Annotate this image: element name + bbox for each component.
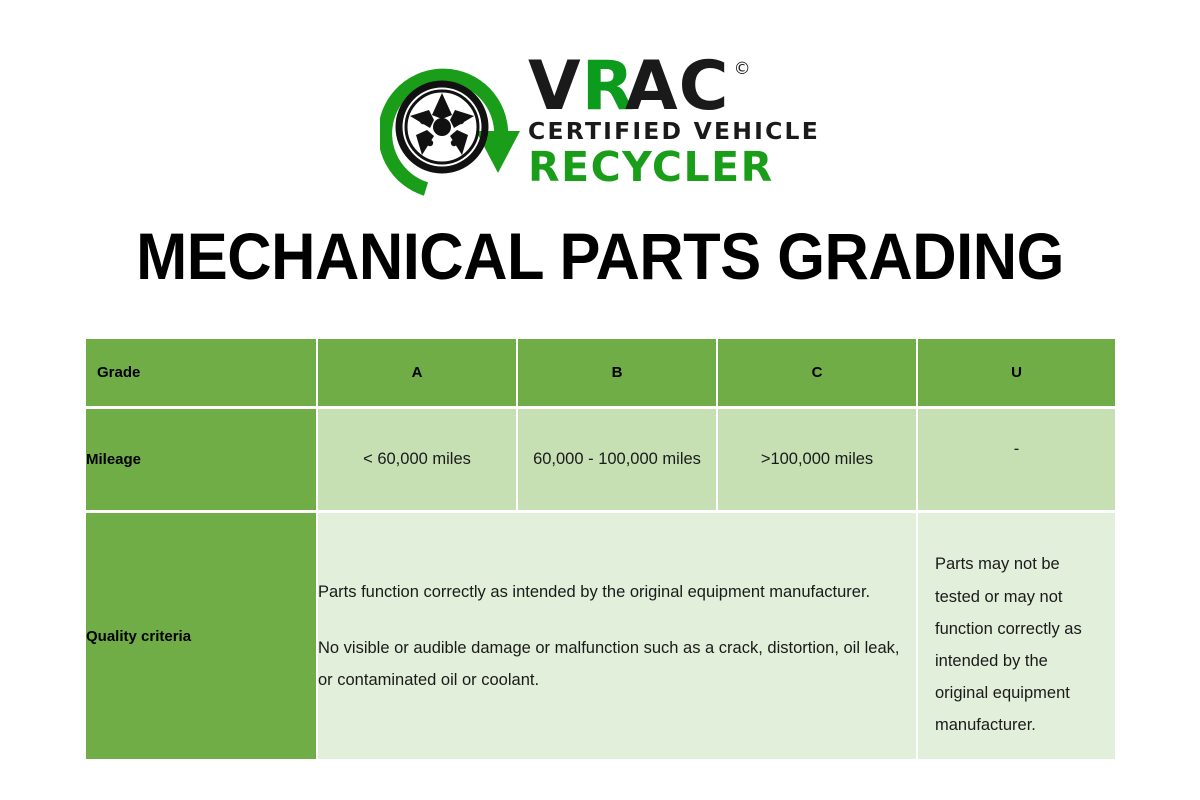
recycle-wheel-icon bbox=[380, 57, 520, 197]
cell-mileage-u: - bbox=[918, 409, 1115, 513]
brand-subbrand: RECYCLER bbox=[528, 147, 820, 188]
column-header-c: C bbox=[718, 339, 918, 409]
table-row-mileage: Mileage < 60,000 miles 60,000 - 100,000 … bbox=[86, 409, 1115, 513]
quality-paragraph-1: Parts function correctly as intended by … bbox=[318, 576, 916, 608]
quality-paragraph-2: No visible or audible damage or malfunct… bbox=[318, 632, 916, 696]
table-header-row: Grade A B C U bbox=[86, 339, 1115, 409]
brand-logo: V R A C © CERTIFIED VEHICLE RECYCLER bbox=[0, 52, 1200, 202]
column-header-a: A bbox=[318, 339, 518, 409]
brand-letter-v: V bbox=[528, 59, 582, 115]
logo-wordmark: V R A C © CERTIFIED VEHICLE RECYCLER bbox=[528, 57, 820, 188]
cell-quality-abc: Parts function correctly as intended by … bbox=[318, 513, 918, 759]
cell-mileage-c: >100,000 miles bbox=[718, 409, 918, 513]
logo-inner: V R A C © CERTIFIED VEHICLE RECYCLER bbox=[380, 57, 820, 197]
cell-quality-u: Parts may not be tested or may not funct… bbox=[918, 513, 1115, 759]
cell-mileage-a: < 60,000 miles bbox=[318, 409, 518, 513]
column-header-grade: Grade bbox=[86, 339, 318, 409]
copyright-icon: © bbox=[734, 63, 751, 77]
row-label-quality-criteria: Quality criteria bbox=[86, 513, 318, 759]
page-title: MECHANICAL PARTS GRADING bbox=[42, 218, 1158, 294]
brand-tagline: CERTIFIED VEHICLE bbox=[528, 120, 820, 144]
cell-mileage-b: 60,000 - 100,000 miles bbox=[518, 409, 718, 513]
brand-letter-a: A bbox=[625, 59, 679, 115]
row-label-mileage: Mileage bbox=[86, 409, 318, 513]
table-row-quality-criteria: Quality criteria Parts function correctl… bbox=[86, 513, 1115, 759]
column-header-b: B bbox=[518, 339, 718, 409]
column-header-u: U bbox=[918, 339, 1115, 409]
brand-name: V R A C © bbox=[528, 59, 820, 115]
mechanical-parts-grading-table: Grade A B C U Mileage < 60,000 miles 60,… bbox=[86, 339, 1115, 759]
brand-letter-c: C bbox=[679, 59, 730, 115]
